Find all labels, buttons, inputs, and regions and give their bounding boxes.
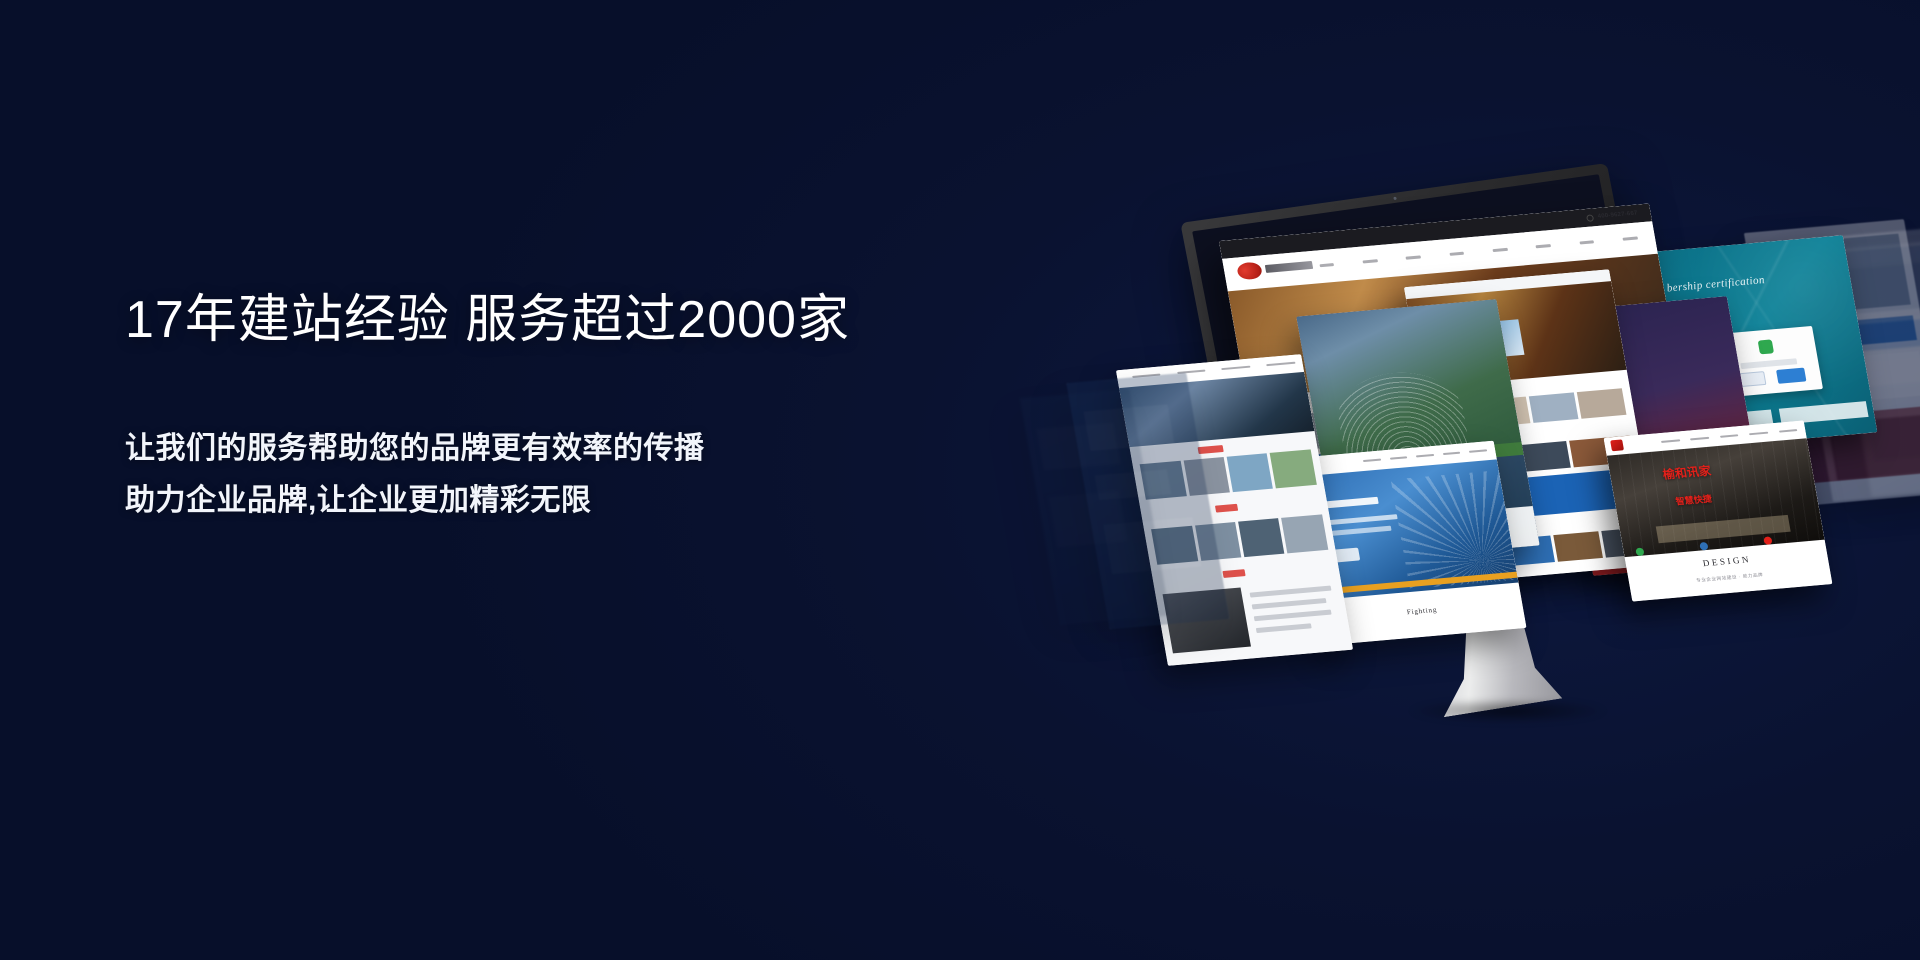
hero-copy: 17年建站经验 服务超过2000家 让我们的服务帮助您的品牌更有效率的传播 助力… <box>125 290 1125 527</box>
showcase-graphic: bership certification tion <box>1150 180 1920 740</box>
check-icon <box>1758 340 1774 355</box>
thumbnail <box>1529 392 1579 423</box>
status-badge <box>1197 445 1224 454</box>
nav-item[interactable] <box>1493 248 1508 252</box>
subtitle-line-2: 助力企业品牌,让企业更加精彩无限 <box>125 475 1125 527</box>
nav-item[interactable] <box>1778 429 1797 433</box>
site-logo-text <box>1265 261 1314 274</box>
nav-item[interactable] <box>1222 366 1251 371</box>
list-item: 榆和讯家 智慧快捷 DESIGN 专业企业网站建设 · 助力品牌 <box>1604 421 1833 602</box>
thumbnail <box>1238 518 1285 557</box>
dialog-text <box>1741 358 1797 369</box>
panel-footer-sub: 专业企业网站建设 · 助力品牌 <box>1696 572 1764 584</box>
thumbnail <box>1281 514 1328 553</box>
thumbnail <box>1227 453 1274 492</box>
nav-item[interactable] <box>1363 458 1381 462</box>
nav-item[interactable] <box>1720 434 1739 438</box>
nav-item[interactable] <box>1362 259 1377 263</box>
nav-item[interactable] <box>1661 439 1680 443</box>
phone-icon <box>1586 214 1594 222</box>
nav-item[interactable] <box>1579 240 1594 244</box>
website-panel-fan: bership certification tion <box>1150 180 1920 740</box>
nav-item[interactable] <box>1449 252 1464 256</box>
status-badge <box>1215 504 1238 512</box>
status-badge <box>1223 569 1246 577</box>
site-logo-icon <box>1236 261 1263 280</box>
nav-item[interactable] <box>1469 449 1487 453</box>
page-title: 17年建站经验 服务超过2000家 <box>125 290 1125 351</box>
hero-subtitle: 让我们的服务帮助您的品牌更有效率的传播 助力企业品牌,让企业更加精彩无限 <box>125 423 1125 526</box>
dialog-confirm-button[interactable] <box>1776 368 1806 384</box>
thumbnail <box>1553 531 1603 562</box>
nav-item[interactable] <box>1536 244 1551 248</box>
panel-footer-word: Fighting <box>1406 605 1438 616</box>
nav-item[interactable] <box>1690 436 1709 440</box>
hero-banner: 17年建站经验 服务超过2000家 让我们的服务帮助您的品牌更有效率的传播 助力… <box>0 0 1920 960</box>
site-logo-icon <box>1610 440 1624 451</box>
nav-item[interactable] <box>1406 255 1421 259</box>
nav-item[interactable] <box>1389 456 1407 460</box>
nav-item[interactable] <box>1416 454 1434 458</box>
nav-item[interactable] <box>1319 263 1334 267</box>
nav-item[interactable] <box>1266 362 1295 367</box>
subtitle-line-1: 让我们的服务帮助您的品牌更有效率的传播 <box>125 423 1125 475</box>
nav-item[interactable] <box>1623 236 1638 240</box>
thumbnail <box>1577 388 1627 419</box>
nav-item[interactable] <box>1749 431 1768 435</box>
nav-item[interactable] <box>1442 451 1460 455</box>
thumbnail <box>1270 449 1317 488</box>
panel-footer-word: DESIGN <box>1702 555 1752 569</box>
